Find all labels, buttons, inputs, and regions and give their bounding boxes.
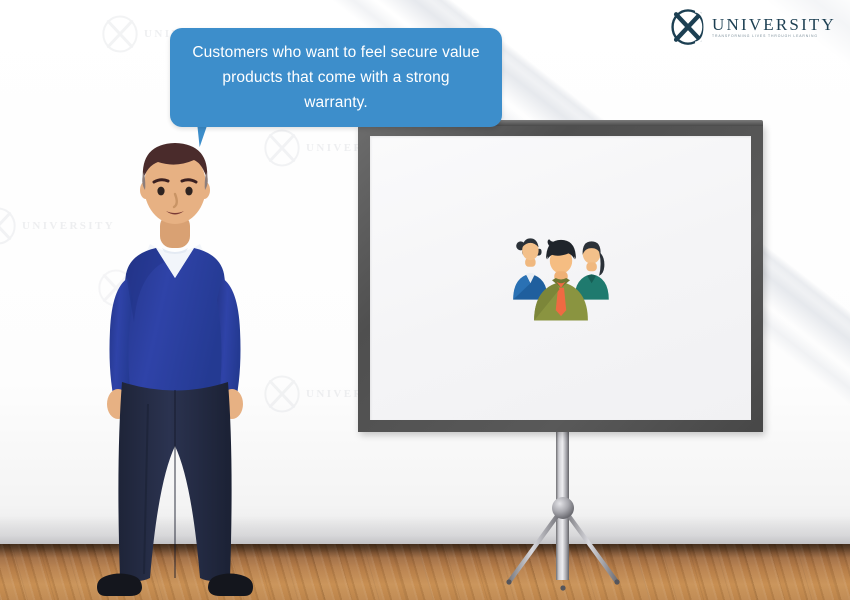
screen-surface	[370, 136, 751, 420]
video-frame-stage: UNIVERSITY UNIVERSITY UNIVERSITY UNIVERS…	[0, 0, 850, 600]
speech-bubble-text: Customers who want to feel secure value …	[192, 40, 480, 115]
person-right	[574, 241, 608, 299]
person-center	[534, 239, 588, 320]
presenter-shoe-left	[97, 574, 142, 597]
brand-name: UNIVERSITY	[712, 16, 836, 33]
person-left	[513, 238, 547, 299]
presenter-shoe-right	[208, 574, 253, 597]
presenter-character	[86, 128, 266, 598]
x-monogram-icon	[669, 8, 707, 46]
brand-tagline: TRANSFORMING LIVES THROUGH LEARNING	[712, 35, 836, 39]
speech-bubble: Customers who want to feel secure value …	[170, 28, 502, 127]
three-people-group-icon	[486, 222, 636, 334]
brand-logo: UNIVERSITY TRANSFORMING LIVES THROUGH LE…	[669, 8, 836, 46]
presentation-screen[interactable]	[358, 124, 763, 432]
screen-frame	[358, 124, 763, 432]
